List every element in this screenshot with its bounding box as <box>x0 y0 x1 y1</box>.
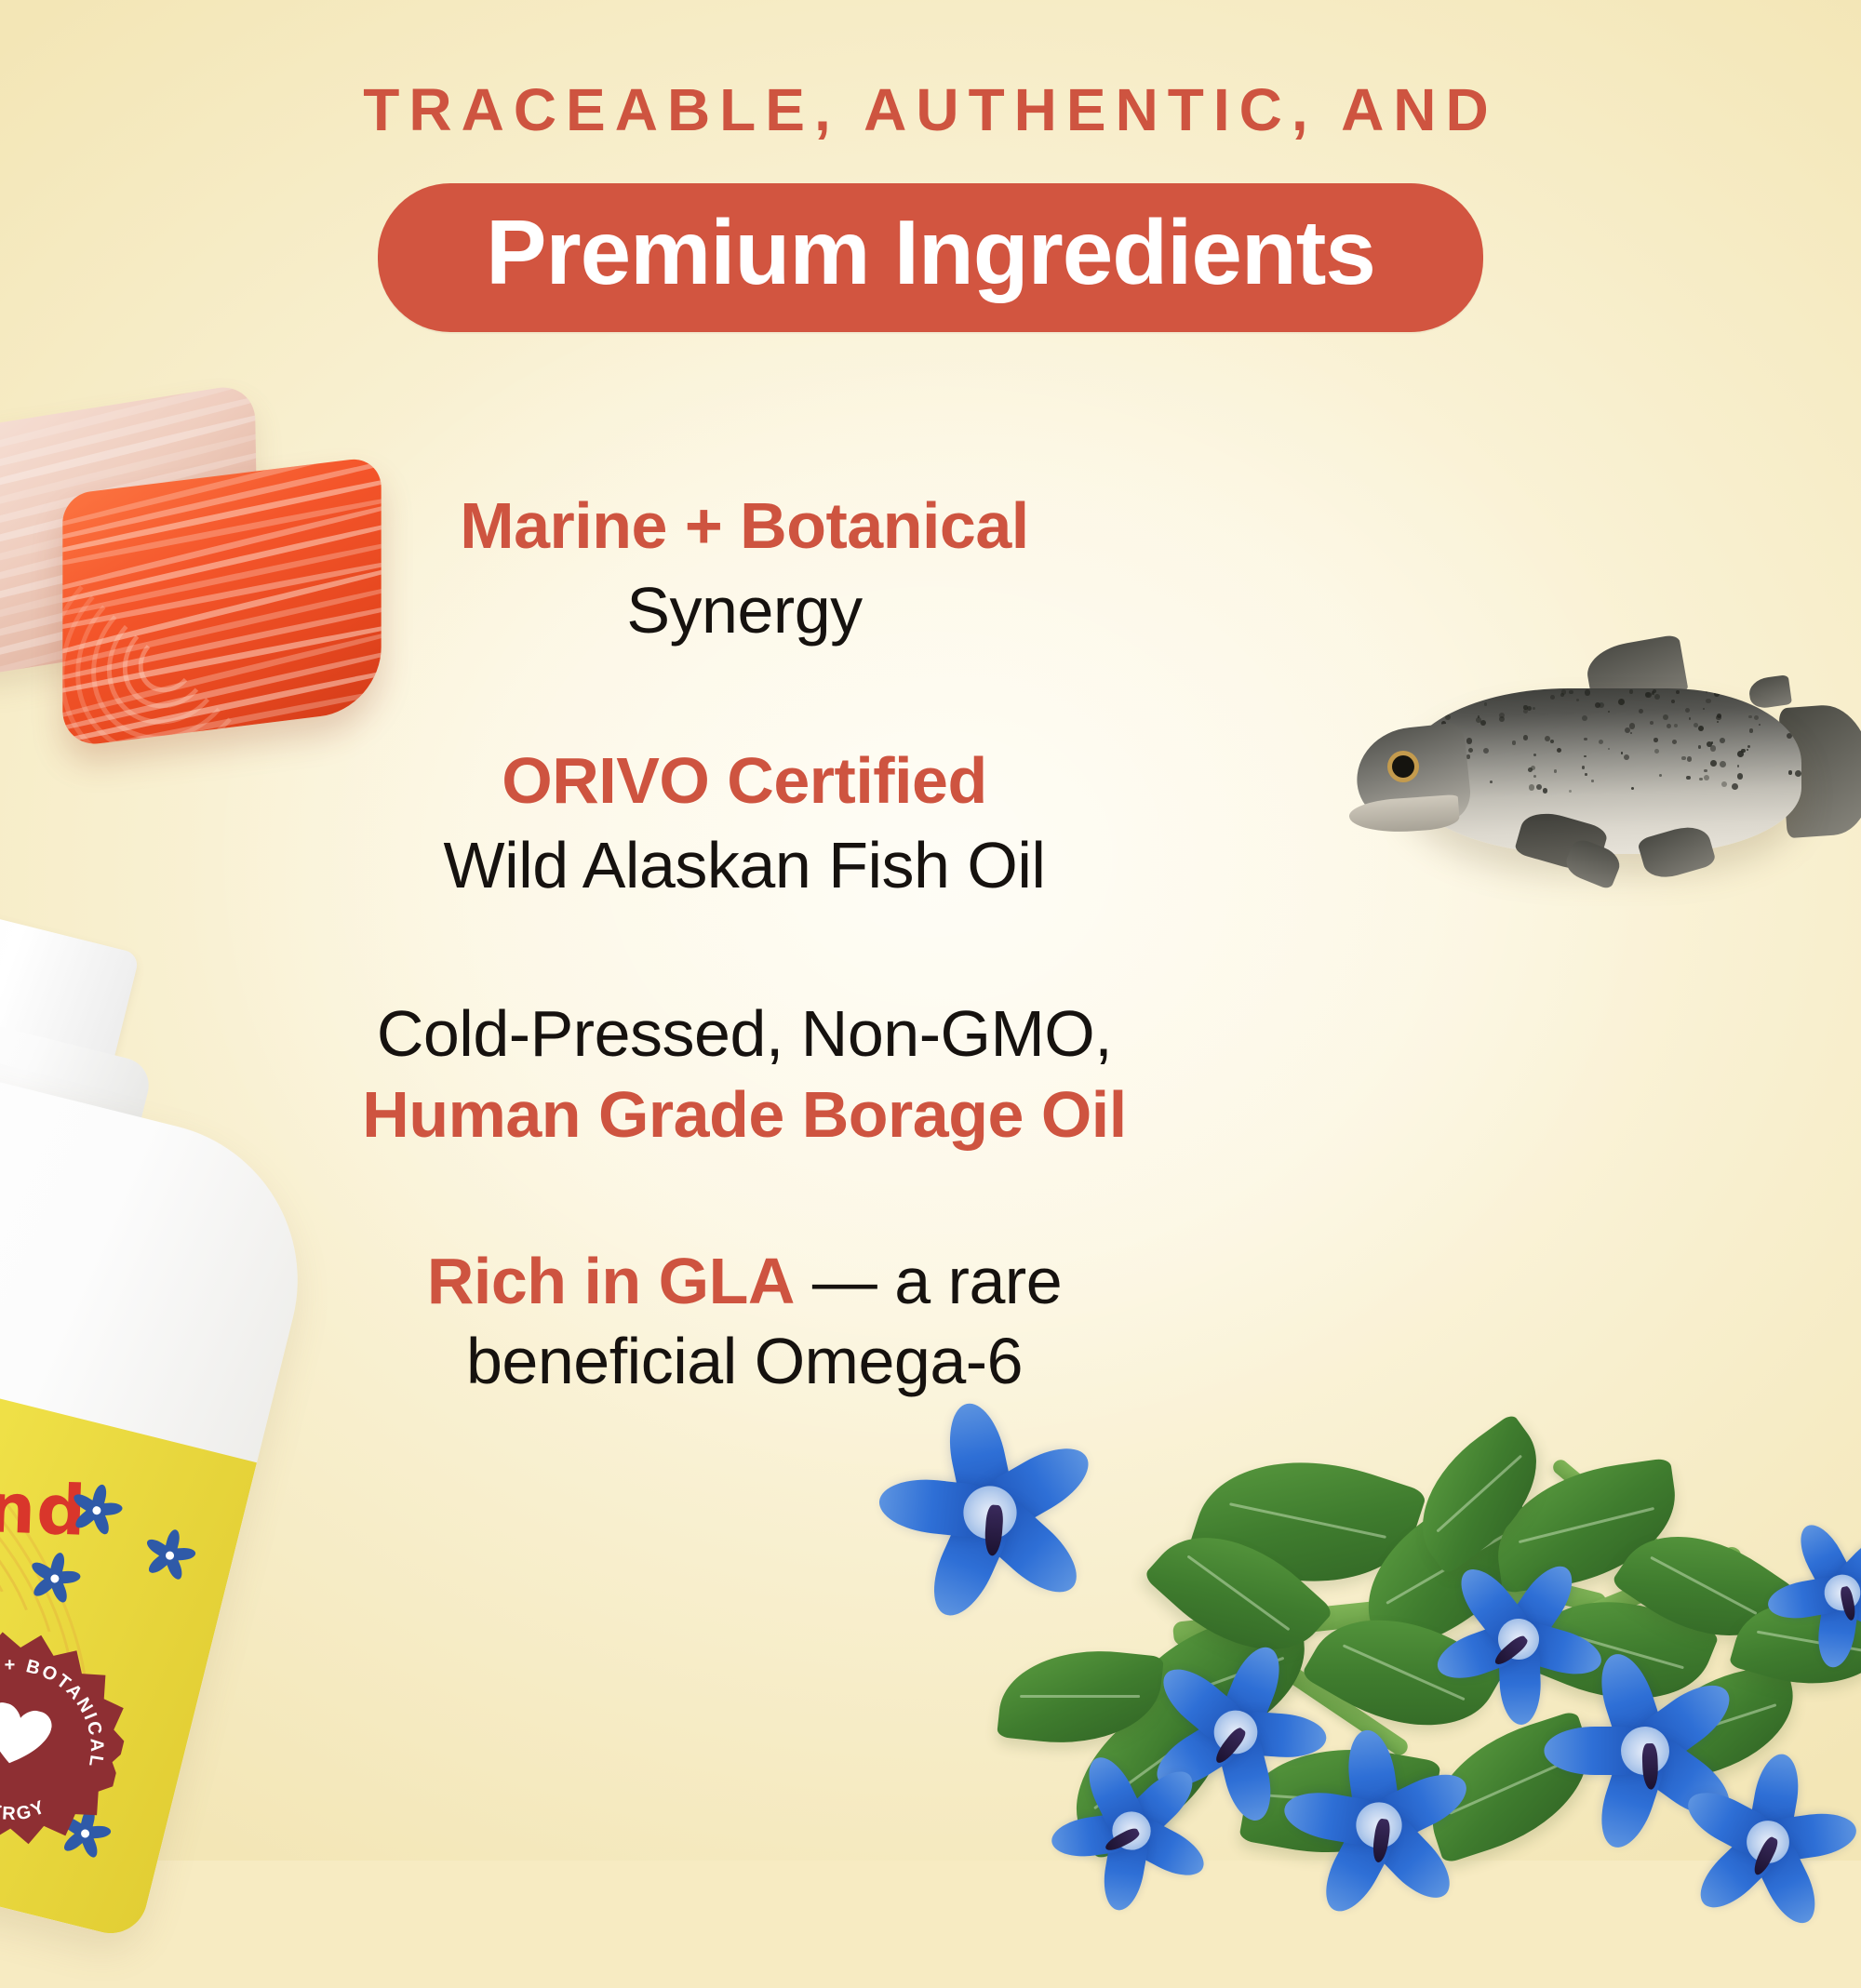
borage-flower <box>1667 1741 1861 1943</box>
whole-salmon-fish-photo <box>1347 616 1861 923</box>
label-borage-icons <box>0 1332 257 1462</box>
feature-accent-text: ORIVO Certified <box>502 744 986 817</box>
eyebrow-text: TRACEABLE, AUTHENTIC, AND <box>0 80 1861 140</box>
feature-item-orivo-certified-fish-oil: ORIVO Certified Wild Alaskan Fish Oil <box>316 739 1172 908</box>
borage-flower <box>1273 1719 1485 1931</box>
borage-flower-icon <box>139 1525 199 1585</box>
feature-plain-text: Wild Alaskan Fish Oil <box>444 829 1046 901</box>
header: TRACEABLE, AUTHENTIC, AND Premium Ingred… <box>0 0 1861 332</box>
borage-flower <box>861 1383 1119 1642</box>
marine-botanical-synergy-seal: MARINE + BOTANICAL SYNERGY <box>0 1609 144 1866</box>
seal-arc-bottom-text: SYNERGY <box>0 1774 54 1835</box>
badge-label: Premium Ingredients <box>486 202 1375 304</box>
feature-line-1: ORIVO Certified <box>316 739 1172 823</box>
feature-plain-text: Synergy <box>626 574 862 647</box>
feature-line-1: Marine + Botanical <box>316 484 1172 568</box>
premium-ingredients-badge: Premium Ingredients <box>378 183 1483 332</box>
fish-eye <box>1392 755 1414 778</box>
borage-flowers-photo <box>940 1369 1861 1872</box>
feature-plain-suffix: — a rare <box>795 1245 1062 1317</box>
badge-wrapper: Premium Ingredients <box>0 183 1861 332</box>
bottle-body: PawFond <box>0 1034 331 1941</box>
label-swirl-pattern <box>0 1332 257 1462</box>
feature-item-marine-botanical-synergy: Marine + Botanical Synergy <box>316 484 1172 653</box>
feature-line-2: Synergy <box>316 568 1172 653</box>
bottle-label: PawFond <box>0 1332 257 1941</box>
feature-line-2: Wild Alaskan Fish Oil <box>316 823 1172 908</box>
feature-accent-text: Marine + Botanical <box>460 489 1028 562</box>
